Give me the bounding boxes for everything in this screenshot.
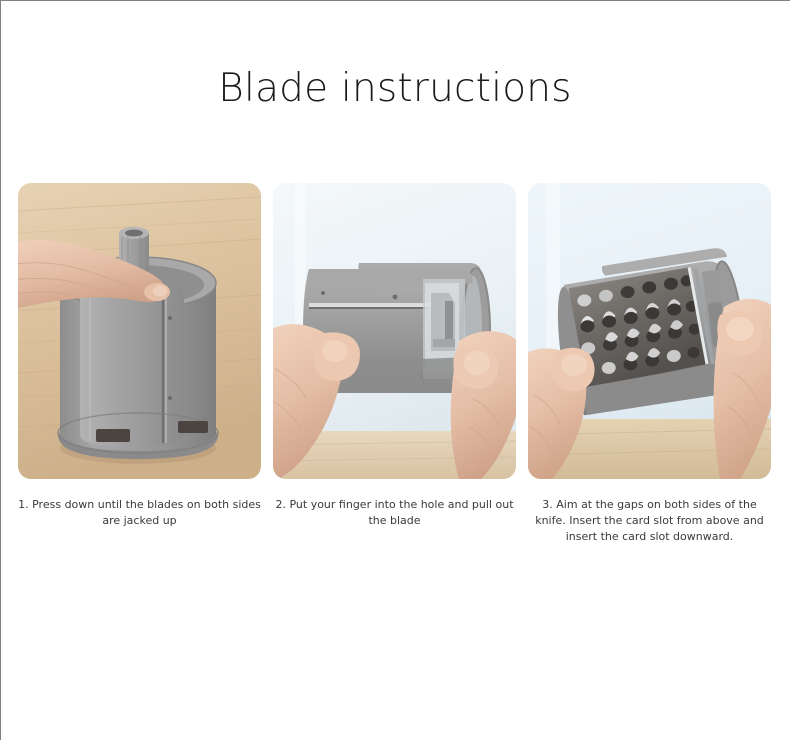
step-3-caption: 3. Aim at the gaps on both sides of the … (528, 497, 771, 545)
blade-metal-strip (309, 303, 441, 307)
step-1-caption: 1. Press down until the blades on both s… (18, 497, 261, 545)
step-2-caption: 2. Put your finger into the hole and pul… (273, 497, 516, 545)
instruction-photo-gallery (18, 183, 772, 479)
step-2-photo (273, 183, 516, 479)
step-1-photo (18, 183, 261, 479)
vent-slot-right (178, 421, 208, 433)
step-3-photo (528, 183, 771, 479)
canvas-top-border (0, 0, 790, 1)
instruction-captions: 1. Press down until the blades on both s… (18, 497, 772, 545)
page-title: Blade instructions (0, 64, 790, 114)
removable-blade-panel (80, 286, 184, 447)
vent-slot-left (96, 429, 130, 442)
